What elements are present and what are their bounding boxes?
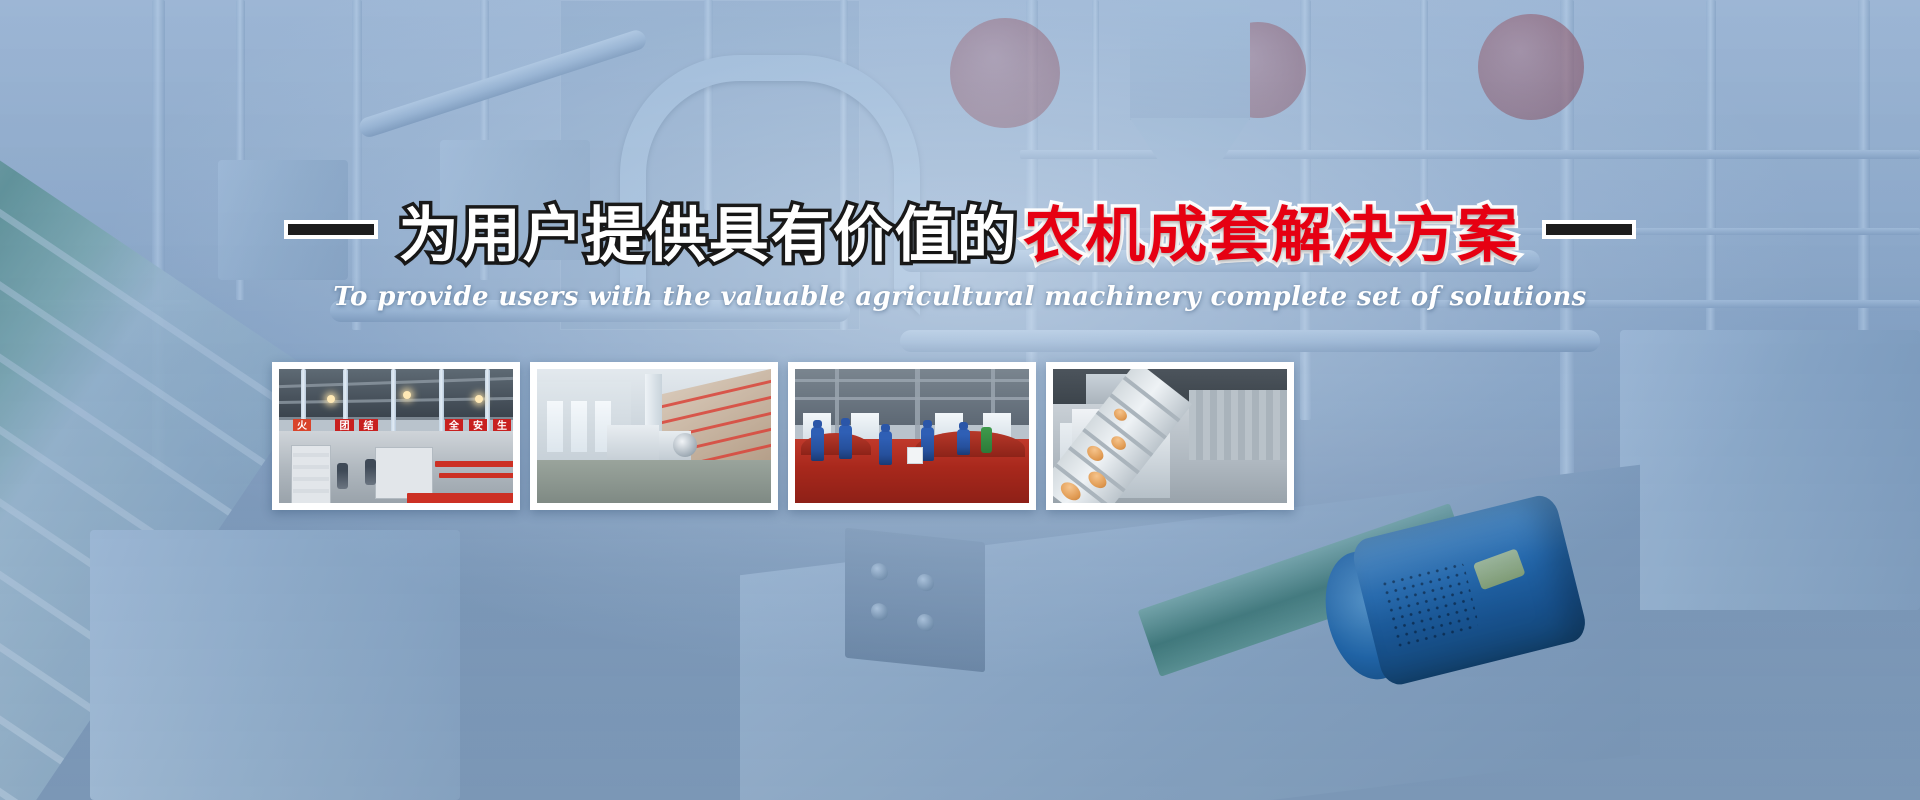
thumbnail-hoist-conveyor[interactable]	[1046, 362, 1294, 510]
dash-left-icon	[288, 224, 374, 235]
hero-banner: 为用户提供具有价值的 农机成套解决方案 To provide users wit…	[0, 0, 1920, 800]
thumbnail-drying-racks[interactable]	[530, 362, 778, 510]
thumbnail-image: 火 团 结 全 安 生	[279, 369, 513, 503]
thumbnail-image	[537, 369, 771, 503]
dash-right-icon	[1546, 224, 1632, 235]
headline-row: 为用户提供具有价值的 农机成套解决方案	[0, 206, 1920, 266]
thumbnail-factory-workshop[interactable]: 火 团 结 全 安 生	[272, 362, 520, 510]
headline-red: 农机成套解决方案	[1023, 206, 1519, 266]
thumbnail-image	[1053, 369, 1287, 503]
thumbnail-image	[795, 369, 1029, 503]
thumbnail-strip: 火 团 结 全 安 生	[272, 362, 1294, 510]
subtitle: To provide users with the valuable agric…	[0, 282, 1920, 312]
headline-white: 为用户提供具有价值的	[399, 206, 1019, 266]
thumbnail-workers-red-produce[interactable]	[788, 362, 1036, 510]
